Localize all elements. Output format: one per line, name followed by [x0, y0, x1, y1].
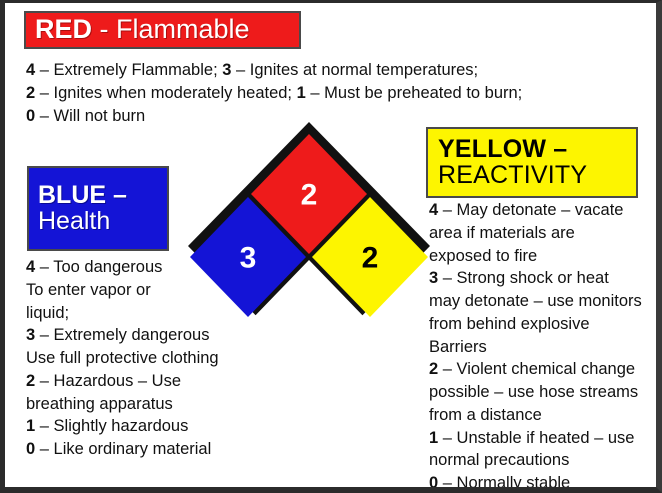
yellow-text-line-7: 2 – Violent chemical change [429, 358, 661, 381]
blue-text-rating-number: 3 [26, 326, 35, 344]
red-section-header: RED - Flammable [24, 11, 301, 49]
red-text-line-1: 2 – Ignites when moderately heated; 1 – … [26, 82, 650, 105]
yellow-text-line-5: from behind explosive [429, 313, 661, 336]
red-header-bold: RED [35, 14, 92, 44]
diamond-reactivity-value: 2 [362, 242, 379, 275]
red-section-text: 4 – Extremely Flammable; 3 – Ignites at … [26, 59, 650, 127]
nfpa-diamond-poster: RED - Flammable 4 – Extremely Flammable;… [0, 0, 662, 493]
blue-text-line-5: 2 – Hazardous – Use [26, 370, 266, 393]
blue-text-line-6: breathing apparatus [26, 393, 266, 416]
blue-header-line2: Health [38, 209, 167, 235]
yellow-header-line1: YELLOW – [438, 137, 636, 163]
red-text-line-0: 4 – Extremely Flammable; 3 – Ignites at … [26, 59, 650, 82]
yellow-text-line-9: from a distance [429, 404, 661, 427]
red-text-rating-number: 2 [26, 84, 35, 102]
blue-text-rating-number: 1 [26, 417, 35, 435]
red-text-rating-number: 1 [297, 84, 306, 102]
red-text-rating-number: 3 [222, 61, 231, 79]
blue-section-header: BLUE – Health [27, 166, 169, 251]
red-text-rating-number: 4 [26, 61, 35, 79]
yellow-text-rating-number: 1 [429, 429, 438, 447]
diamond-health-value: 3 [240, 242, 257, 275]
blue-header-line1: BLUE – [38, 183, 167, 209]
yellow-text-line-1: area if materials are [429, 222, 661, 245]
blue-text-line-7: 1 – Slightly hazardous [26, 415, 266, 438]
yellow-text-line-8: possible – use hose streams [429, 381, 661, 404]
yellow-section-header: YELLOW – REACTIVITY [426, 127, 638, 198]
red-header-text: RED - Flammable [35, 16, 299, 44]
yellow-text-line-6: Barriers [429, 336, 661, 359]
yellow-text-line-12: 0 – Normally stable [429, 472, 661, 493]
diamond-flammability-value: 2 [301, 179, 318, 212]
yellow-text-line-3: 3 – Strong shock or heat [429, 267, 661, 290]
yellow-text-rating-number: 0 [429, 474, 438, 492]
blue-text-line-8: 0 – Like ordinary material [26, 438, 266, 461]
red-header-rest: - Flammable [92, 14, 250, 44]
blue-text-rating-number: 2 [26, 372, 35, 390]
blue-text-rating-number: 0 [26, 440, 35, 458]
yellow-text-line-11: normal precautions [429, 449, 661, 472]
red-text-rating-number: 0 [26, 107, 35, 125]
yellow-text-line-4: may detonate – use monitors [429, 290, 661, 313]
nfpa-704-diamond: 2 3 2 [186, 120, 432, 372]
yellow-section-text: 4 – May detonate – vacatearea if materia… [429, 199, 661, 493]
yellow-text-line-2: exposed to fire [429, 245, 661, 268]
yellow-text-line-10: 1 – Unstable if heated – use [429, 427, 661, 450]
yellow-header-line2: REACTIVITY [438, 163, 636, 189]
yellow-text-line-0: 4 – May detonate – vacate [429, 199, 661, 222]
blue-text-rating-number: 4 [26, 258, 35, 276]
